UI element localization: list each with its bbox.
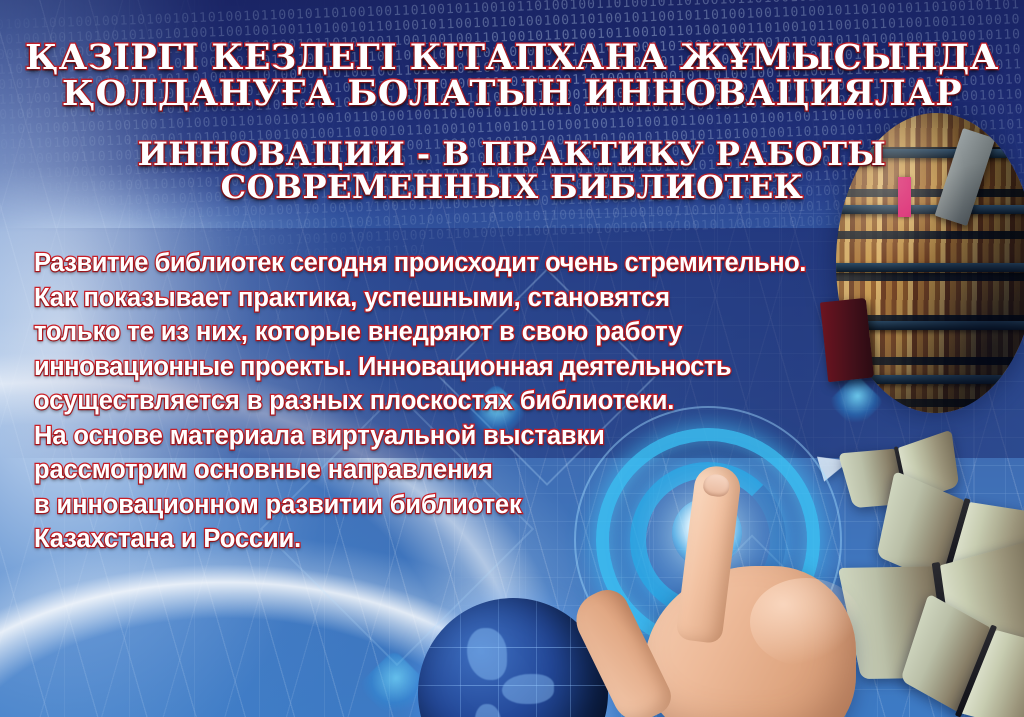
poster-canvas: 0100110010010011010010110100101100101101… bbox=[0, 0, 1024, 717]
russian-title-line-1: ИННОВАЦИИ - В ПРАКТИКУ РАБОТЫ bbox=[0, 138, 1024, 171]
body-line-9: Казахстана и России. bbox=[34, 522, 914, 557]
russian-title-line-2: СОВРЕМЕННЫХ БИБЛИОТЕК bbox=[0, 171, 1024, 204]
body-line-2: Как показывает практика, успешными, стан… bbox=[34, 281, 914, 316]
body-line-1: Развитие библиотек сегодня происходит оч… bbox=[34, 246, 914, 281]
body-line-8: в инновационном развитии библиотек bbox=[34, 488, 914, 523]
body-line-4: инновационные проекты. Инновационная дея… bbox=[34, 350, 914, 385]
kazakh-title-line-1: ҚАЗІРГІ КЕЗДЕГІ КІТАПХАНА ЖҰМЫСЫНДА bbox=[0, 40, 1024, 76]
russian-title: ИННОВАЦИИ - В ПРАКТИКУ РАБОТЫ СОВРЕМЕННЫ… bbox=[0, 138, 1024, 205]
body-paragraph: Развитие библиотек сегодня происходит оч… bbox=[34, 246, 914, 557]
kazakh-title: ҚАЗІРГІ КЕЗДЕГІ КІТАПХАНА ЖҰМЫСЫНДА ҚОЛД… bbox=[0, 40, 1024, 113]
body-line-7: рассмотрим основные направления bbox=[34, 453, 914, 488]
body-line-6: На основе материала виртуальной выставки bbox=[34, 419, 914, 454]
kazakh-title-line-2: ҚОЛДАНУҒА БОЛАТЫН ИННОВАЦИЯЛАР bbox=[0, 76, 1024, 112]
body-line-3: только те из них, которые внедряют в сво… bbox=[34, 315, 914, 350]
body-line-5: осуществляется в разных плоскостях библи… bbox=[34, 384, 914, 419]
